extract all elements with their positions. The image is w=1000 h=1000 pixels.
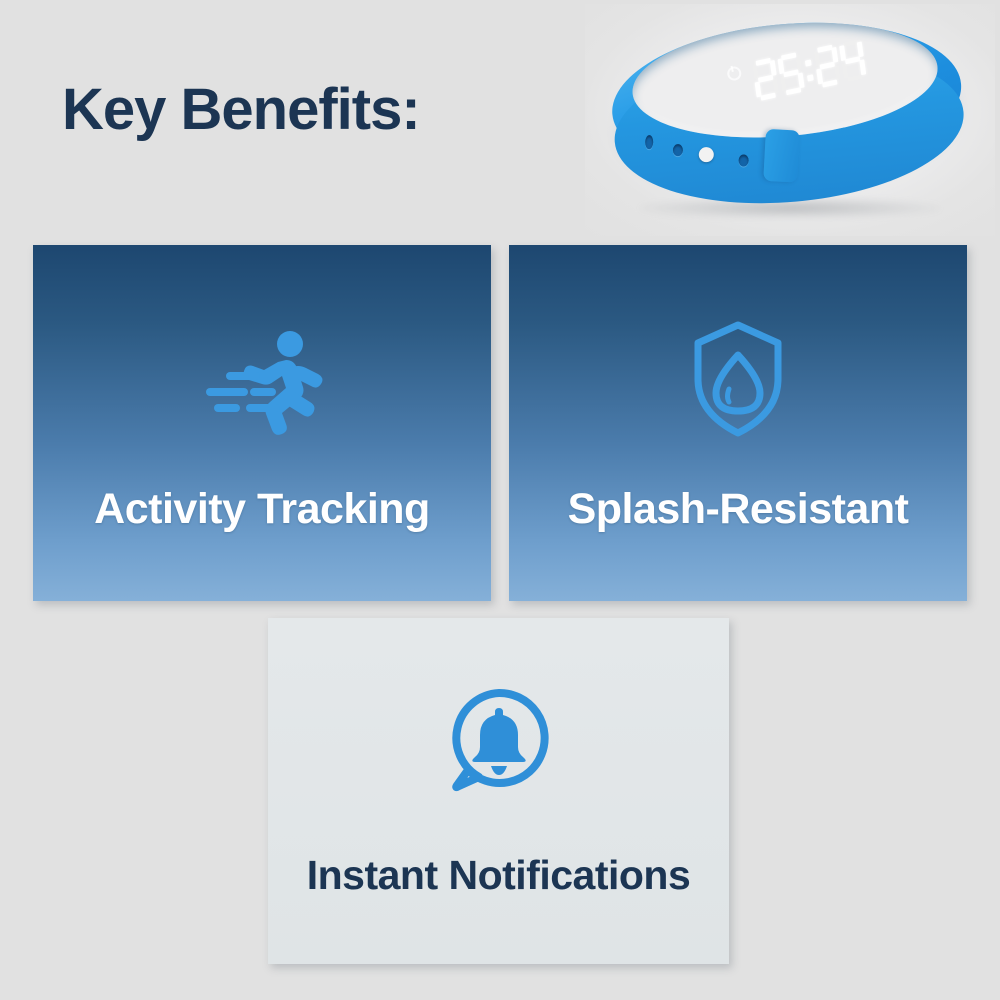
- running-person-icon: [33, 317, 491, 447]
- led-digit-3: [814, 44, 842, 88]
- strap-buckle: [763, 129, 800, 183]
- benefit-card-splash-resistant[interactable]: Splash-Resistant: [509, 245, 967, 601]
- benefit-card-label: Splash-Resistant: [509, 485, 967, 534]
- benefit-card-label: Activity Tracking: [33, 485, 491, 534]
- strap-hole: [673, 144, 683, 156]
- shield-water-drop-icon: [509, 311, 967, 447]
- benefit-card-activity-tracking[interactable]: Activity Tracking: [33, 245, 491, 601]
- benefit-card-instant-notifications[interactable]: Instant Notifications: [268, 618, 729, 964]
- strap-hole: [645, 135, 653, 149]
- chat-bubble-bell-icon: [268, 674, 729, 804]
- benefit-card-label: Instant Notifications: [268, 852, 729, 899]
- page-title: Key Benefits:: [62, 80, 420, 141]
- led-digit-1: [752, 57, 780, 101]
- product-hero-image: [585, 4, 995, 236]
- benefits-page: Key Benefits:: [0, 0, 1000, 1000]
- strap-pin-icon: [699, 147, 715, 163]
- led-digit-2: [777, 52, 805, 96]
- strap-hole: [738, 154, 748, 166]
- fitness-tracker-band: [606, 9, 970, 219]
